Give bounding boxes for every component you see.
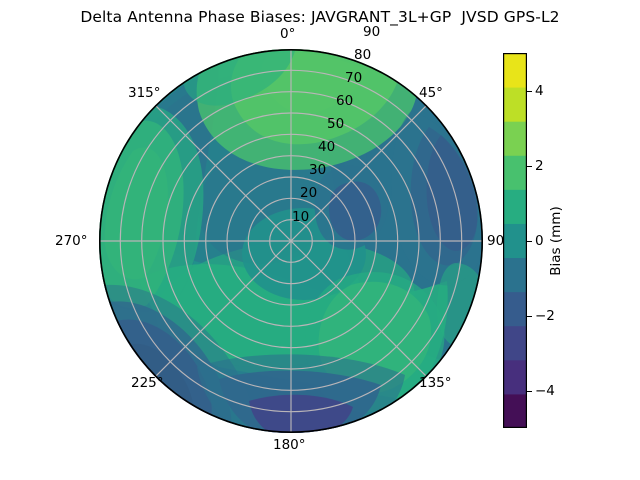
theta-tick-label-135: 135°	[419, 375, 452, 391]
r-tick-label-50: 50	[327, 116, 344, 132]
r-tick-label-80: 80	[354, 47, 371, 63]
r-tick-label-70: 70	[345, 70, 362, 86]
theta-tick-label-270: 270°	[55, 233, 88, 249]
theta-tick-label-0: 0°	[280, 26, 295, 42]
colorbar-tick-label: −2	[535, 308, 555, 324]
r-tick-label-40: 40	[318, 139, 335, 155]
colorbar-tick-mark	[527, 91, 532, 92]
r-tick-label-20: 20	[300, 185, 317, 201]
r-tick-label-30: 30	[309, 162, 326, 178]
colorbar-tick-label: 2	[535, 158, 544, 174]
theta-tick-label-180: 180°	[273, 437, 306, 453]
chart-title: Delta Antenna Phase Biases: JAVGRANT_3L+…	[0, 8, 640, 26]
colorbar-tick-mark	[527, 316, 532, 317]
r-tick-label-90: 90	[363, 24, 380, 40]
figure-canvas: Delta Antenna Phase Biases: JAVGRANT_3L+…	[0, 0, 640, 480]
theta-tick-label-225: 225°	[131, 375, 164, 391]
colorbar-tick-label: 4	[535, 83, 544, 99]
colorbar-tick-label: 0	[535, 233, 544, 249]
colorbar-axis-label: Bias (mm)	[548, 206, 564, 275]
colorbar-tick-mark	[527, 241, 532, 242]
theta-tick-label-315: 315°	[128, 85, 161, 101]
r-tick-label-10: 10	[292, 209, 309, 225]
colorbar-tick-mark	[527, 391, 532, 392]
colorbar-tick-label: −4	[535, 383, 555, 399]
r-tick-label-60: 60	[336, 93, 353, 109]
theta-tick-label-45: 45°	[419, 85, 443, 101]
colorbar-tick-mark	[527, 166, 532, 167]
